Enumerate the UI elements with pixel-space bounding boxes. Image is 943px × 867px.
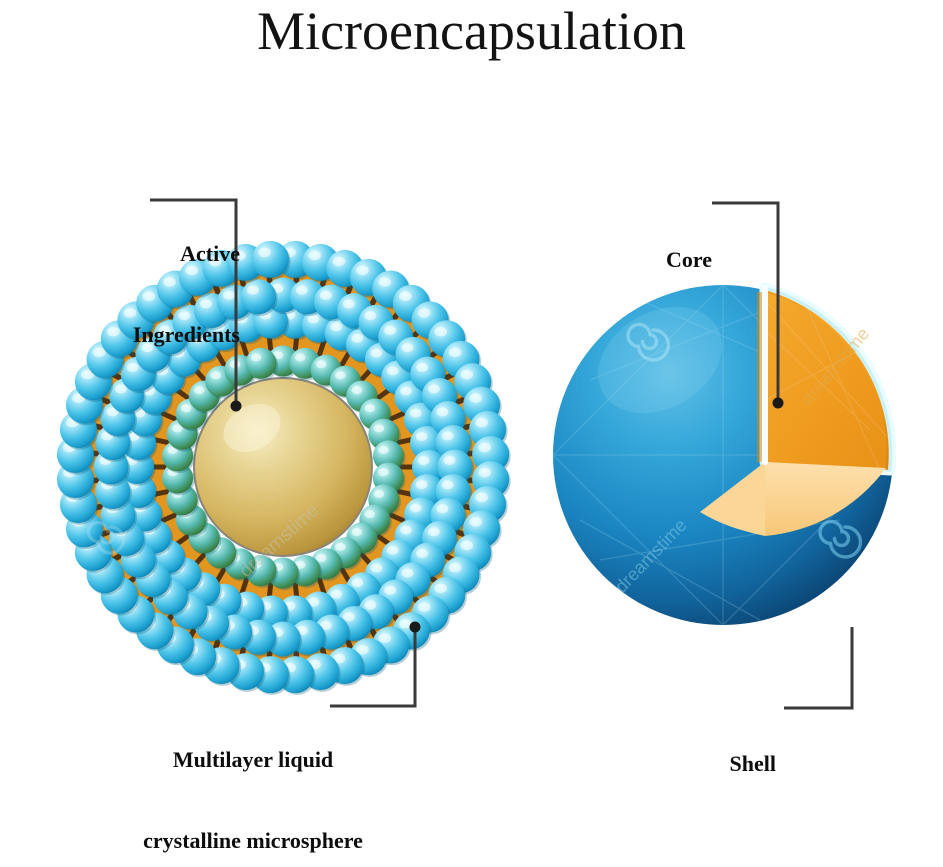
lipid-head-highlight	[384, 586, 396, 595]
lipid-head-highlight	[330, 322, 342, 331]
lipid-head-bead	[241, 279, 276, 314]
lipid-head-highlight	[378, 446, 389, 454]
lipid-head-highlight	[435, 583, 448, 593]
lipid-head-highlight	[400, 526, 412, 535]
lipid-head-highlight	[365, 510, 376, 518]
lipid-head-highlight	[371, 564, 383, 573]
lipid-head-highlight	[416, 432, 428, 441]
lipid-head-highlight	[449, 563, 462, 573]
lipid-head-highlight	[316, 554, 327, 562]
lipid-head-highlight	[475, 493, 488, 503]
lipid-head-highlight	[387, 546, 399, 555]
label-shell-line1: Shell	[714, 750, 776, 777]
diagram-page: Microencapsulation	[0, 0, 943, 867]
lipid-head-highlight	[374, 424, 385, 432]
lipid-head-highlight	[251, 353, 262, 361]
lipid-head-highlight	[335, 371, 346, 379]
lipid-head-highlight	[436, 407, 448, 416]
lipid-head-highlight	[449, 348, 462, 358]
lipid-head-highlight	[352, 386, 363, 394]
lipid-head-highlight	[418, 456, 430, 465]
lipid-head-highlight	[296, 286, 308, 295]
lipid-head-highlight	[416, 549, 428, 558]
lipid-head-highlight	[475, 418, 488, 428]
core-shell-capsule-illustration: dreamstime dreamstime	[553, 285, 893, 625]
lipid-head-highlight	[436, 504, 448, 513]
lipid-head-highlight	[399, 291, 412, 301]
lipid-head-highlight	[308, 251, 321, 261]
lipid-head-highlight	[365, 404, 376, 412]
lipid-head-bead	[245, 348, 276, 379]
lipid-head-bead	[252, 241, 289, 278]
lipid-head-highlight	[428, 527, 440, 536]
lipid-head-highlight	[401, 343, 413, 352]
lipid-head-highlight	[343, 612, 355, 621]
lipid-head-highlight	[400, 387, 412, 396]
lipid-head-highlight	[460, 541, 473, 551]
lipid-head-highlight	[356, 265, 369, 275]
lipid-head-highlight	[478, 468, 491, 478]
lipid-head-highlight	[418, 308, 431, 318]
lipid-head-highlight	[387, 366, 399, 375]
lipid-head-highlight	[442, 431, 454, 440]
lipid-head-highlight	[364, 601, 376, 610]
lipid-head-highlight	[410, 409, 422, 418]
lipid-head-highlight	[343, 299, 355, 308]
label-active-ingredients-line2: Ingredients	[90, 321, 240, 348]
lipid-head-highlight	[335, 543, 346, 551]
leader-shell	[784, 627, 852, 708]
lipid-head-highlight	[460, 370, 473, 380]
lipid-head-highlight	[378, 468, 389, 476]
lipid-head-highlight	[371, 349, 383, 358]
lipid-head-highlight	[181, 404, 192, 412]
label-shell: Shell	[714, 696, 776, 831]
lipid-head-highlight	[247, 286, 259, 295]
lipid-head-highlight	[469, 393, 482, 403]
lipid-head-highlight	[478, 443, 491, 453]
lipid-head-highlight	[364, 311, 376, 320]
lipid-head-highlight	[416, 363, 428, 372]
lipid-head-highlight	[352, 528, 363, 536]
label-multilayer-microsphere-line2: crystalline microsphere	[118, 827, 388, 854]
lipid-head-highlight	[333, 257, 346, 267]
label-core-line1: Core	[644, 246, 712, 273]
label-core: Core	[644, 192, 712, 327]
lipid-head-highlight	[443, 456, 455, 465]
lipid-head-highlight	[410, 504, 422, 513]
lipid-head-highlight	[295, 353, 306, 361]
label-active-ingredients-line1: Active	[90, 240, 240, 267]
lipid-head-highlight	[384, 326, 396, 335]
lipid-head-highlight	[352, 578, 364, 587]
lipid-head-highlight	[330, 590, 342, 599]
lipid-head-highlight	[378, 277, 391, 287]
lipid-head-highlight	[352, 334, 364, 343]
label-multilayer-microsphere: Multilayer liquid crystalline microspher…	[118, 692, 388, 867]
lipid-head-highlight	[258, 248, 271, 258]
lipid-head-highlight	[416, 480, 428, 489]
lipid-head-highlight	[401, 568, 413, 577]
lipid-head-highlight	[320, 291, 332, 300]
lipid-head-highlight	[428, 384, 440, 393]
lipid-head-highlight	[316, 360, 327, 368]
lipid-head-highlight	[469, 517, 482, 527]
lipid-head-highlight	[378, 633, 391, 643]
lipid-head-highlight	[442, 480, 454, 489]
label-multilayer-microsphere-line1: Multilayer liquid	[118, 746, 388, 773]
lipid-head-highlight	[435, 327, 448, 337]
lipid-head-highlight	[374, 490, 385, 498]
label-active-ingredients: Active Ingredients	[90, 186, 240, 402]
lipid-head-highlight	[418, 602, 431, 612]
